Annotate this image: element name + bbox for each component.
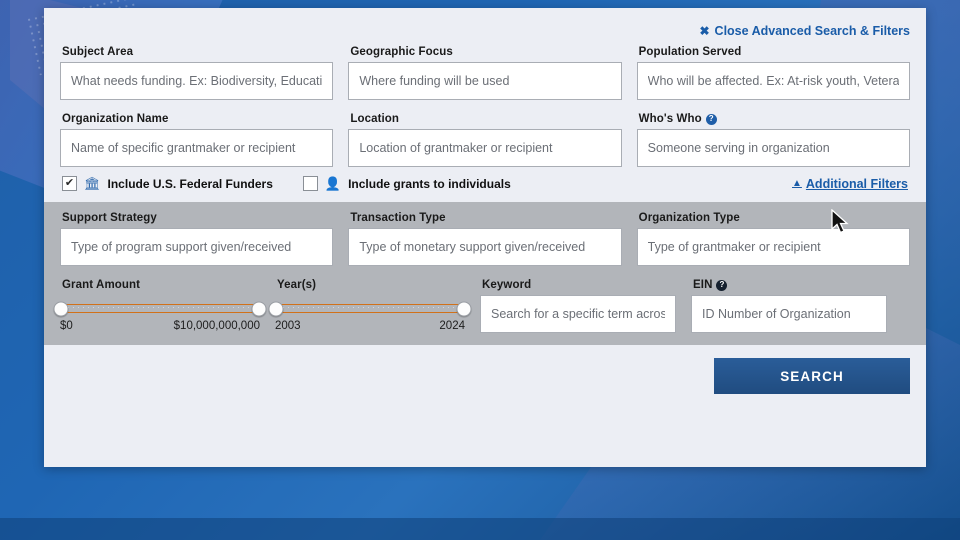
slider-grant-amount-handle-max[interactable]	[252, 301, 267, 316]
input-whos-who[interactable]	[637, 129, 910, 167]
basic-row-1: Subject Area Geographic Focus Population…	[60, 46, 910, 100]
slider-grant-amount-track[interactable]	[60, 304, 260, 313]
basic-row-2: Organization Name Location Who's Who ?	[60, 113, 910, 167]
field-grant-amount: Grant Amount $0 $10,000,000,000	[60, 279, 260, 332]
field-keyword: Keyword	[480, 279, 676, 333]
advanced-search-panel: ✖ Close Advanced Search & Filters Subjec…	[44, 8, 926, 467]
additional-filters-section: Support Strategy Transaction Type Organi…	[44, 202, 926, 345]
background-footer-band	[0, 518, 960, 540]
input-population-served[interactable]	[637, 62, 910, 100]
slider-years-min-label: 2003	[275, 320, 301, 332]
checkbox-federal-funders-label: Include U.S. Federal Funders	[108, 177, 273, 191]
input-support-strategy[interactable]	[60, 228, 333, 266]
slider-years-max-label: 2024	[439, 320, 465, 332]
slider-row: Grant Amount $0 $10,000,000,000 Year(s)	[60, 279, 910, 333]
label-transaction-type: Transaction Type	[350, 212, 621, 224]
field-subject-area: Subject Area	[60, 46, 333, 100]
label-ein: EIN ?	[693, 279, 887, 291]
input-organization-type[interactable]	[637, 228, 910, 266]
input-location[interactable]	[348, 129, 621, 167]
close-x-icon: ✖	[699, 25, 709, 37]
close-advanced-search-label: Close Advanced Search & Filters	[715, 24, 910, 38]
field-organization-type: Organization Type	[637, 212, 910, 266]
field-geographic-focus: Geographic Focus	[348, 46, 621, 100]
slider-grant-amount-handle-min[interactable]	[54, 301, 69, 316]
input-keyword[interactable]	[480, 295, 676, 333]
input-geographic-focus[interactable]	[348, 62, 621, 100]
slider-years[interactable]: 2003 2024	[275, 295, 465, 332]
field-location: Location	[348, 113, 621, 167]
field-support-strategy: Support Strategy	[60, 212, 333, 266]
extra-row-1: Support Strategy Transaction Type Organi…	[60, 212, 910, 266]
slider-grant-amount-min-label: $0	[60, 320, 73, 332]
checkbox-row: ✔ 🏛 Include U.S. Federal Funders 👤 Inclu…	[60, 167, 910, 202]
field-ein: EIN ?	[691, 279, 887, 333]
field-whos-who: Who's Who ?	[637, 113, 910, 167]
close-advanced-search-link[interactable]: ✖ Close Advanced Search & Filters	[699, 24, 910, 38]
bank-icon: 🏛	[84, 177, 101, 190]
field-population-served: Population Served	[637, 46, 910, 100]
label-keyword: Keyword	[482, 279, 676, 291]
checkbox-grants-to-individuals-label: Include grants to individuals	[348, 177, 511, 191]
field-transaction-type: Transaction Type	[348, 212, 621, 266]
help-icon-whos-who[interactable]: ?	[706, 114, 717, 125]
slider-years-handle-max[interactable]	[457, 301, 472, 316]
label-organization-name: Organization Name	[62, 113, 333, 125]
label-years: Year(s)	[277, 279, 465, 291]
label-whos-who: Who's Who ?	[639, 113, 910, 125]
slider-grant-amount-ticks: $0 $10,000,000,000	[60, 320, 260, 332]
label-population-served: Population Served	[639, 46, 910, 58]
field-organization-name: Organization Name	[60, 113, 333, 167]
field-years: Year(s) 2003 2024	[275, 279, 465, 332]
panel-footer: SEARCH	[44, 345, 926, 467]
label-location: Location	[350, 113, 621, 125]
slider-years-track[interactable]	[275, 304, 465, 313]
chevron-up-icon: ▲	[792, 178, 802, 189]
label-subject-area: Subject Area	[62, 46, 333, 58]
additional-filters-toggle[interactable]: ▲ Additional Filters	[792, 177, 908, 191]
slider-grant-amount-max-label: $10,000,000,000	[174, 320, 260, 332]
slider-years-ticks: 2003 2024	[275, 320, 465, 332]
input-subject-area[interactable]	[60, 62, 333, 100]
input-organization-name[interactable]	[60, 129, 333, 167]
input-ein[interactable]	[691, 295, 887, 333]
slider-years-handle-min[interactable]	[269, 301, 284, 316]
person-icon: 👤	[325, 177, 341, 190]
slider-grant-amount[interactable]: $0 $10,000,000,000	[60, 295, 260, 332]
help-icon-ein[interactable]: ?	[716, 280, 727, 291]
label-grant-amount: Grant Amount	[62, 279, 260, 291]
checkbox-grants-to-individuals[interactable]: 👤 Include grants to individuals	[303, 176, 511, 191]
checkbox-federal-funders[interactable]: ✔ 🏛 Include U.S. Federal Funders	[62, 176, 273, 191]
additional-filters-label: Additional Filters	[806, 177, 908, 191]
basic-filters-section: Subject Area Geographic Focus Population…	[44, 38, 926, 202]
close-row: ✖ Close Advanced Search & Filters	[44, 8, 926, 38]
checkbox-federal-funders-box[interactable]: ✔	[62, 176, 77, 191]
label-geographic-focus: Geographic Focus	[350, 46, 621, 58]
search-button[interactable]: SEARCH	[714, 358, 910, 394]
checkbox-grants-to-individuals-box[interactable]	[303, 176, 318, 191]
input-transaction-type[interactable]	[348, 228, 621, 266]
label-organization-type: Organization Type	[639, 212, 910, 224]
label-support-strategy: Support Strategy	[62, 212, 333, 224]
